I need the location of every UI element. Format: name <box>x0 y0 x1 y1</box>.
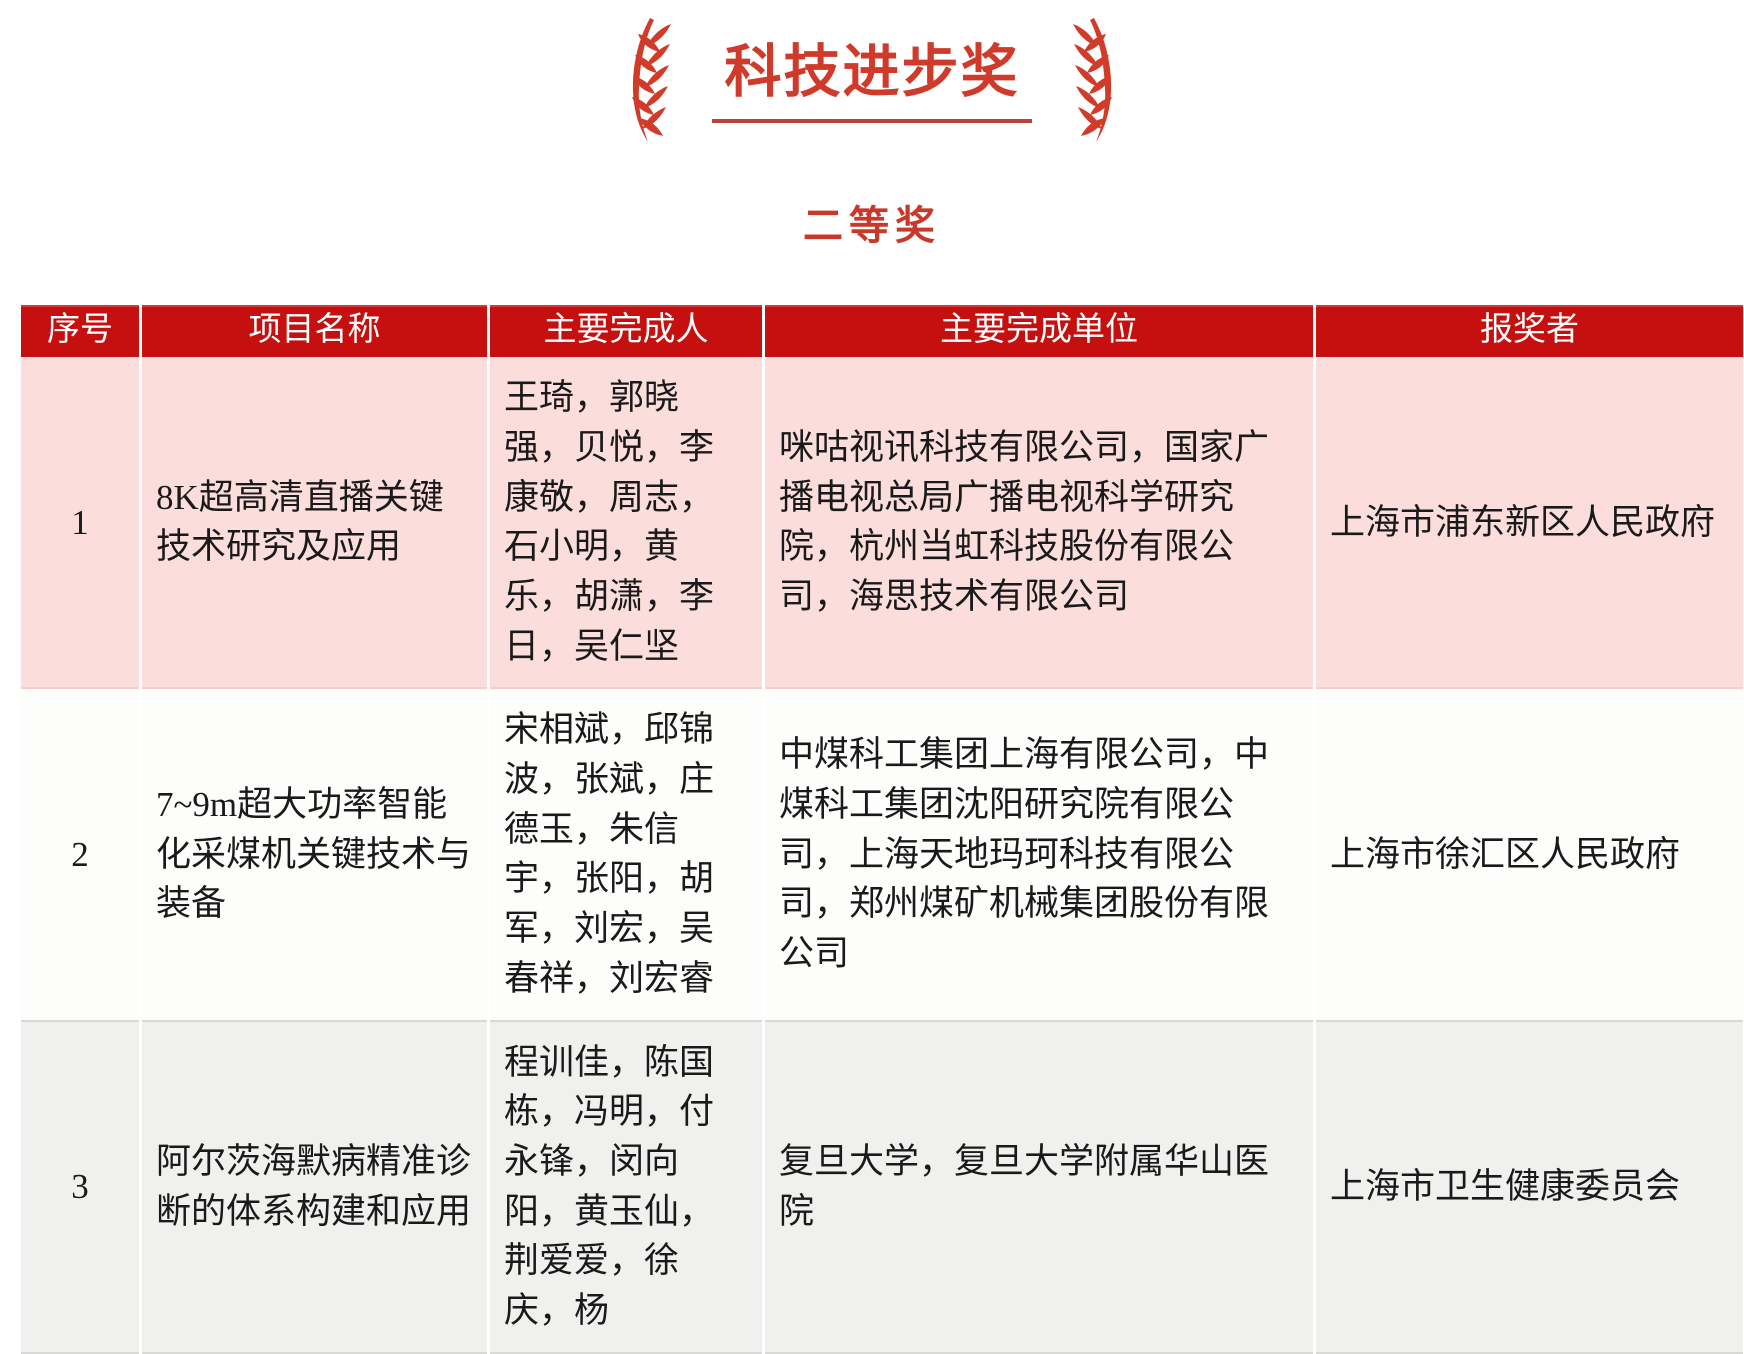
cell-people: 王琦，郭晓强，贝悦，李康敬，周志，石小明，黄乐，胡潇，李日，吴仁坚 <box>490 357 762 689</box>
cell-seq: 2 <box>21 689 139 1021</box>
table-row: 3 阿尔茨海默病精准诊断的体系构建和应用 程训佳，陈国栋，冯明，付永锋，闵向阳，… <box>21 1022 1743 1354</box>
cell-project: 7~9m超大功率智能化采煤机关键技术与装备 <box>142 689 487 1021</box>
award-table-container: 序号 项目名称 主要完成人 主要完成单位 报奖者 1 8K超高清直播关键技术研究… <box>0 305 1744 1354</box>
column-header-project: 项目名称 <box>142 305 487 357</box>
column-header-seq: 序号 <box>21 305 139 357</box>
column-header-units: 主要完成单位 <box>765 305 1313 357</box>
table-row: 1 8K超高清直播关键技术研究及应用 王琦，郭晓强，贝悦，李康敬，周志，石小明，… <box>21 357 1743 689</box>
laurel-wreath-left-icon <box>608 14 686 149</box>
award-level-label: 二等奖 <box>803 193 941 251</box>
award-title-row: 科技进步奖 <box>608 14 1136 149</box>
column-header-reporter: 报奖者 <box>1316 305 1743 357</box>
cell-units: 复旦大学，复旦大学附属华山医院 <box>765 1022 1313 1354</box>
cell-reporter: 上海市徐汇区人民政府 <box>1316 689 1743 1021</box>
column-header-people: 主要完成人 <box>490 305 762 357</box>
table-body: 1 8K超高清直播关键技术研究及应用 王琦，郭晓强，贝悦，李康敬，周志，石小明，… <box>21 357 1743 1353</box>
cell-seq: 3 <box>21 1022 139 1354</box>
award-title-block: 科技进步奖 <box>704 40 1040 124</box>
cell-seq: 1 <box>21 357 139 689</box>
title-divider <box>712 119 1032 123</box>
cell-reporter: 上海市浦东新区人民政府 <box>1316 357 1743 689</box>
table-header-row: 序号 项目名称 主要完成人 主要完成单位 报奖者 <box>21 305 1743 357</box>
laurel-wreath-right-icon <box>1058 14 1136 149</box>
cell-people: 程训佳，陈国栋，冯明，付永锋，闵向阳，黄玉仙，荆爱爱，徐庆，杨 <box>490 1022 762 1354</box>
table-header: 序号 项目名称 主要完成人 主要完成单位 报奖者 <box>21 305 1743 357</box>
cell-project: 阿尔茨海默病精准诊断的体系构建和应用 <box>142 1022 487 1354</box>
cell-units: 咪咕视讯科技有限公司，国家广播电视总局广播电视科学研究院，杭州当虹科技股份有限公… <box>765 357 1313 689</box>
award-header: 科技进步奖 二等奖 <box>0 0 1744 251</box>
cell-project: 8K超高清直播关键技术研究及应用 <box>142 357 487 689</box>
page-title: 科技进步奖 <box>725 40 1020 106</box>
award-table: 序号 项目名称 主要完成人 主要完成单位 报奖者 1 8K超高清直播关键技术研究… <box>18 305 1744 1354</box>
cell-units: 中煤科工集团上海有限公司，中煤科工集团沈阳研究院有限公司，上海天地玛珂科技有限公… <box>765 689 1313 1021</box>
cell-people: 宋相斌，邱锦波，张斌，庄德玉，朱信宇，张阳，胡军，刘宏，吴春祥，刘宏睿 <box>490 689 762 1021</box>
cell-reporter: 上海市卫生健康委员会 <box>1316 1022 1743 1354</box>
table-row: 2 7~9m超大功率智能化采煤机关键技术与装备 宋相斌，邱锦波，张斌，庄德玉，朱… <box>21 689 1743 1021</box>
